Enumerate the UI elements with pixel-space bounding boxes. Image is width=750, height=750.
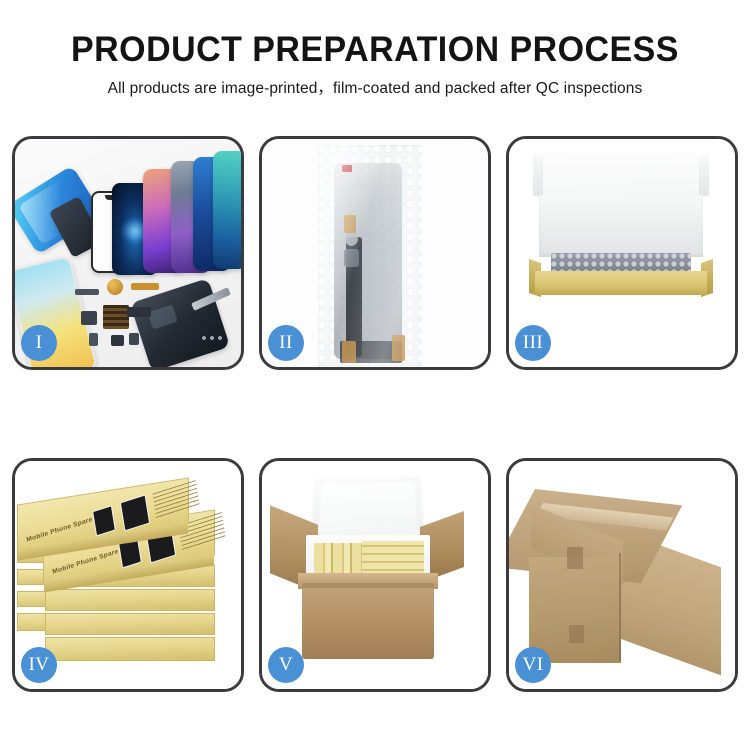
- stacked-box-slab: [45, 637, 215, 661]
- step-badge-1: I: [21, 325, 57, 361]
- steps-grid: I II: [12, 136, 738, 692]
- step-badge-2: II: [268, 325, 304, 361]
- stacked-box-slab: [45, 589, 215, 611]
- step-panel-5: V: [259, 458, 491, 692]
- step-panel-6: VI: [506, 458, 738, 692]
- box-window-screen-a: [92, 505, 116, 536]
- carton-seam-upper: [567, 547, 583, 569]
- step-panel-4: Mobile Phone Spare Parts Mobile Phone Sp…: [12, 458, 244, 692]
- yellow-box-front: [535, 271, 707, 295]
- page-subtitle: All products are image-printed，film-coat…: [0, 78, 750, 100]
- part-speaker-module: [111, 335, 124, 346]
- part-screws: [201, 335, 225, 341]
- part-circuit-array: [103, 305, 129, 329]
- stacked-box-slab: [45, 613, 215, 635]
- part-flex-cable-gold: [131, 283, 159, 290]
- box-window-screen-b: [120, 494, 150, 531]
- step-badge-6: VI: [515, 647, 551, 683]
- part-sim-tray: [89, 333, 98, 346]
- foam-insert: [539, 195, 703, 257]
- carton-seam-lower: [569, 625, 584, 643]
- step-badge-3: III: [515, 325, 551, 361]
- step-panel-1: I: [12, 136, 244, 370]
- bag-highlight: [318, 145, 422, 367]
- bubble-wrap-bag: [318, 145, 422, 367]
- page-title: PRODUCT PREPARATION PROCESS: [11, 28, 739, 72]
- part-button-module: [129, 333, 139, 345]
- step-badge-4: IV: [21, 647, 57, 683]
- step-badge-5: V: [268, 647, 304, 683]
- product-preparation-infographic: PRODUCT PREPARATION PROCESS All products…: [0, 0, 750, 750]
- carton-front-face: [529, 557, 621, 663]
- part-camera-module: [81, 311, 97, 325]
- part-flex-cable-dark: [127, 307, 151, 317]
- header: PRODUCT PREPARATION PROCESS All products…: [0, 28, 750, 100]
- part-connector-strip: [75, 289, 99, 295]
- carton-front-face: [302, 583, 434, 659]
- step-panel-2: II: [259, 136, 491, 370]
- phone-display-teal: [213, 151, 241, 269]
- carton-vertical-edge: [619, 553, 621, 661]
- part-vibration-motor: [107, 279, 123, 295]
- step-panel-3: III: [506, 136, 738, 370]
